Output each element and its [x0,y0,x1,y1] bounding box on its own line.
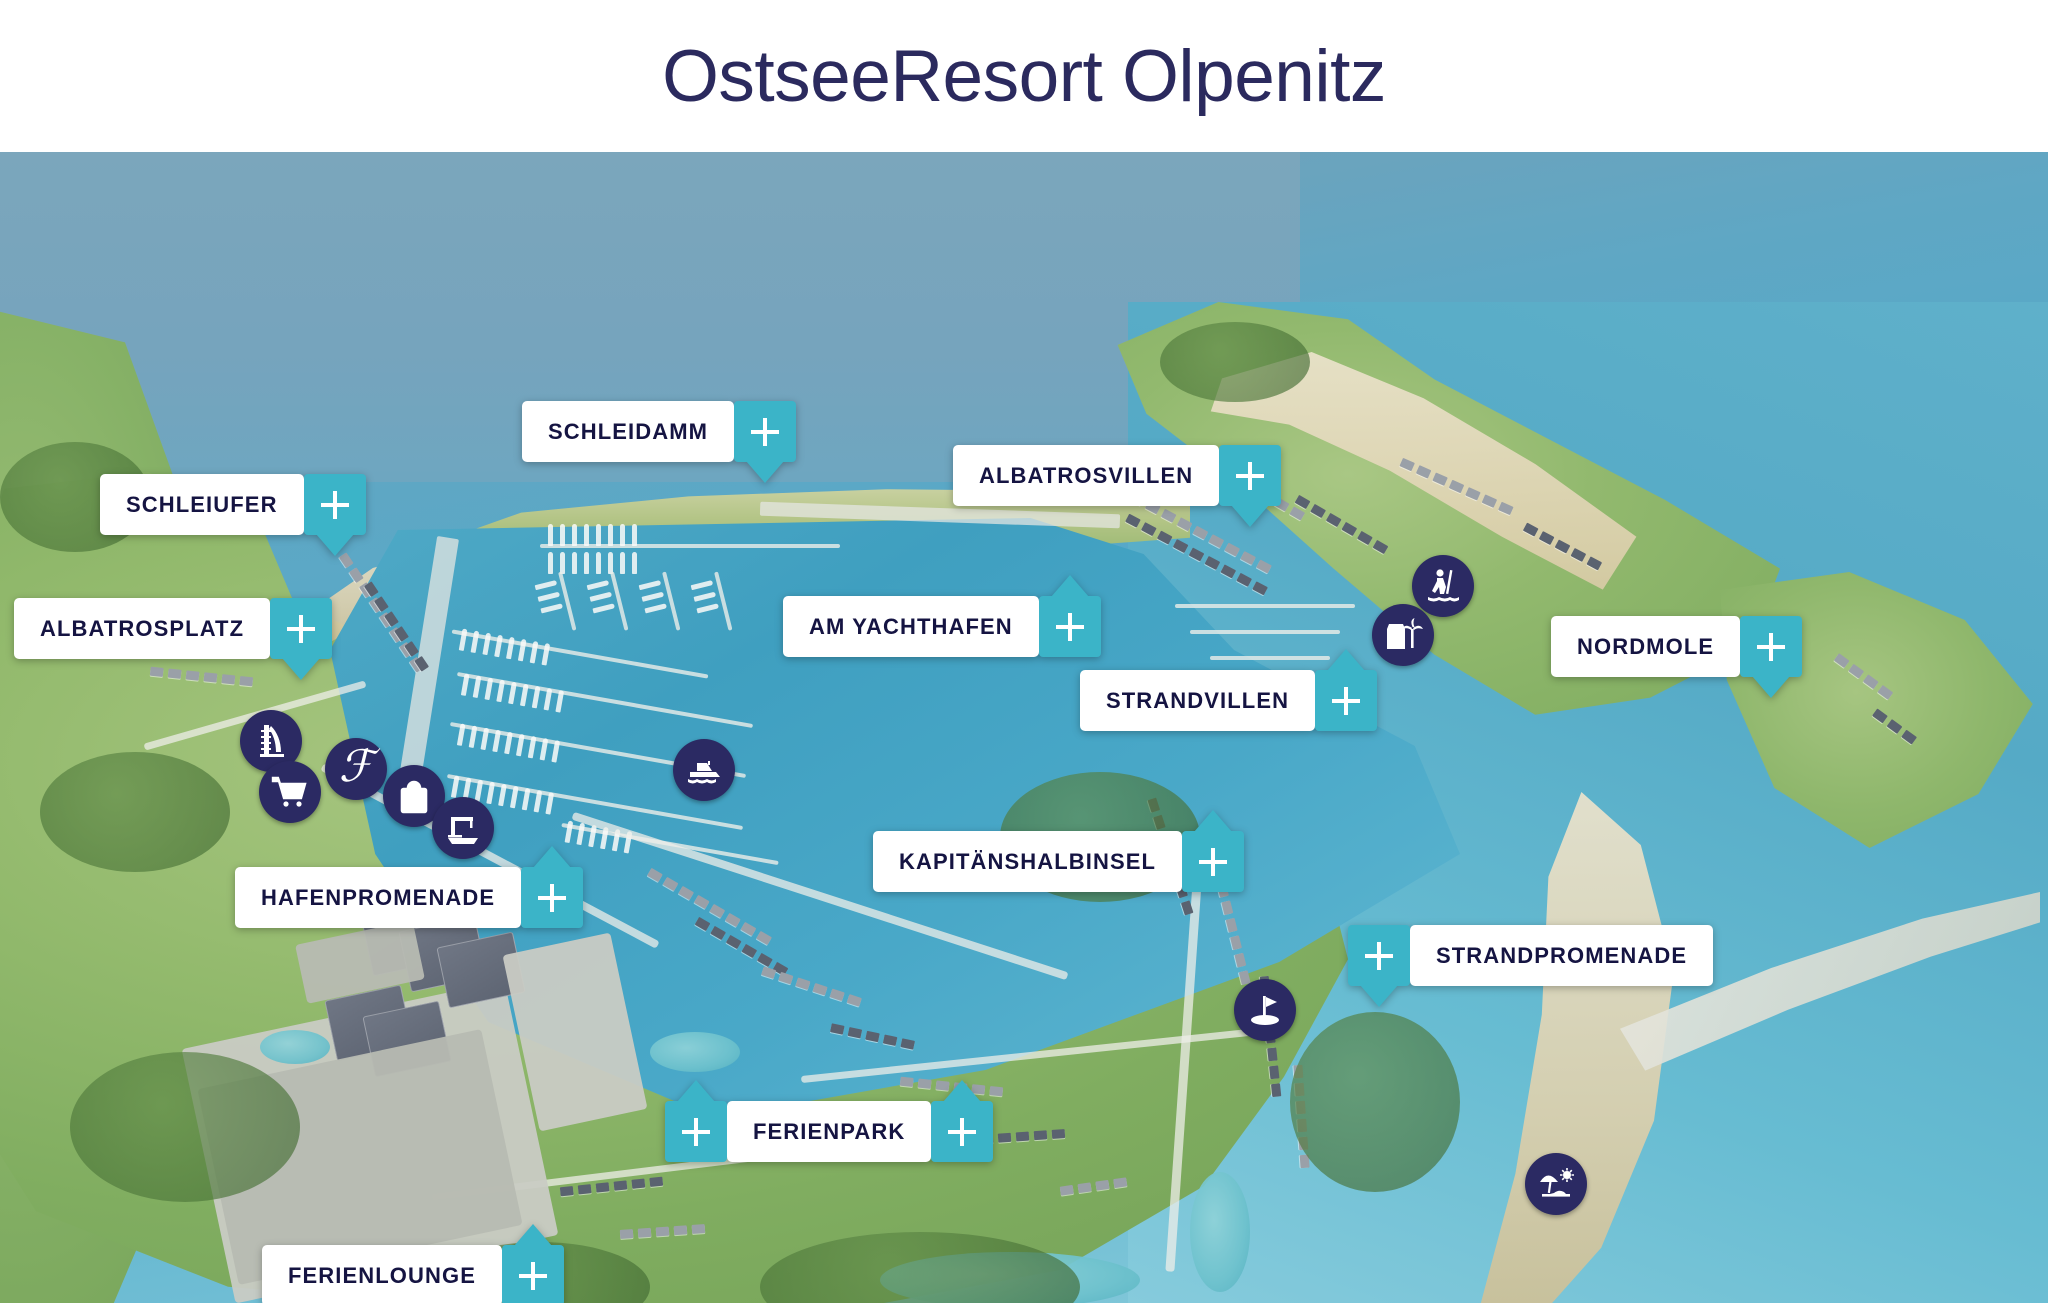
marker-kapitaenshalbinsel[interactable]: KAPITÄNSHALBINSEL [873,831,1244,892]
plus-icon[interactable] [1182,831,1244,892]
marker-ferienpark[interactable]: FERIENPARK [665,1101,993,1162]
marker-schleidamm[interactable]: SCHLEIDAMM [522,401,796,462]
golf-flag-icon[interactable] [1234,979,1296,1041]
resort-map[interactable]: ℱ [0,152,2048,1303]
plus-icon-left[interactable] [665,1101,727,1162]
plus-icon[interactable] [1315,670,1377,731]
plus-icon[interactable] [1740,616,1802,677]
paddleboard-icon[interactable] [1412,555,1474,617]
plus-icon[interactable] [521,867,583,928]
marker-label: STRANDPROMENADE [1410,925,1713,986]
f-monogram-icon[interactable]: ℱ [325,738,387,800]
marker-label: FERIENLOUNGE [262,1245,502,1303]
beach-umbrella-icon[interactable] [1525,1153,1587,1215]
marker-ferienlounge[interactable]: FERIENLOUNGE [262,1245,564,1303]
marker-label: SCHLEIUFER [100,474,304,535]
marker-nordmole[interactable]: NORDMOLE [1551,616,1802,677]
marker-albatrosplatz[interactable]: ALBATROSPLATZ [14,598,332,659]
marker-albatrosvillen[interactable]: ALBATROSVILLEN [953,445,1281,506]
plus-icon-right[interactable] [931,1101,993,1162]
marker-strandvillen[interactable]: STRANDVILLEN [1080,670,1377,731]
title-bar: OstseeResort Olpenitz [0,0,2048,152]
marker-label: FERIENPARK [727,1101,931,1162]
marker-label: ALBATROSPLATZ [14,598,270,659]
marker-label: ALBATROSVILLEN [953,445,1219,506]
marker-hafenpromenade[interactable]: HAFENPROMENADE [235,867,583,928]
marker-strandpromenade[interactable]: STRANDPROMENADE [1348,925,1713,986]
shopping-cart-icon[interactable] [259,761,321,823]
marker-schleiufer[interactable]: SCHLEIUFER [100,474,366,535]
plus-icon[interactable] [270,598,332,659]
aerial-map-image [0,152,2048,1303]
marker-label: SCHLEIDAMM [522,401,734,462]
marker-label: HAFENPROMENADE [235,867,521,928]
f-monogram-glyph: ℱ [339,745,374,789]
marker-am-yachthafen[interactable]: AM YACHTHAFEN [783,596,1101,657]
marker-label: NORDMOLE [1551,616,1740,677]
beach-kiosk-icon[interactable] [1372,604,1434,666]
plus-icon[interactable] [1039,596,1101,657]
plus-icon[interactable] [1348,925,1410,986]
page-title: OstseeResort Olpenitz [662,40,1386,113]
plus-icon[interactable] [1219,445,1281,506]
plus-icon[interactable] [734,401,796,462]
plus-icon[interactable] [304,474,366,535]
marker-label: AM YACHTHAFEN [783,596,1039,657]
motorboat-icon[interactable] [673,739,735,801]
map-page: OstseeResort Olpenitz [0,0,2048,1303]
boat-crane-icon[interactable] [432,797,494,859]
plus-icon[interactable] [502,1245,564,1303]
marker-label: STRANDVILLEN [1080,670,1315,731]
marker-label: KAPITÄNSHALBINSEL [873,831,1182,892]
